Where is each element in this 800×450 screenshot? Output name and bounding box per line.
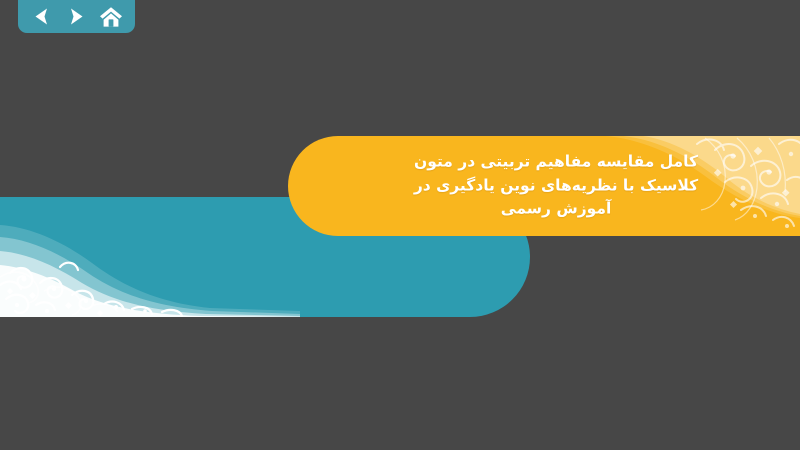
arabesque-ornament-icon [0, 207, 300, 317]
home-icon [99, 6, 123, 28]
triangle-left-icon [33, 7, 50, 26]
navigation-bar [18, 0, 135, 33]
title-panel: کامل مقایسه مفاهیم تربیتی در متون کلاسیک… [288, 136, 800, 236]
page-title: کامل مقایسه مفاهیم تربیتی در متون کلاسیک… [340, 151, 772, 222]
slide-canvas: کامل مقایسه مفاهیم تربیتی در متون کلاسیک… [0, 0, 800, 450]
title-line-1: کامل مقایسه مفاهیم تربیتی در متون [340, 151, 772, 175]
home-button[interactable] [97, 4, 125, 30]
triangle-right-icon [68, 7, 85, 26]
back-button[interactable] [27, 4, 55, 30]
forward-button[interactable] [62, 4, 90, 30]
title-line-3: آموزش رسمی [340, 198, 772, 222]
title-line-2: کلاسیک با نظریه‌های نوین یادگیری در [340, 174, 772, 198]
